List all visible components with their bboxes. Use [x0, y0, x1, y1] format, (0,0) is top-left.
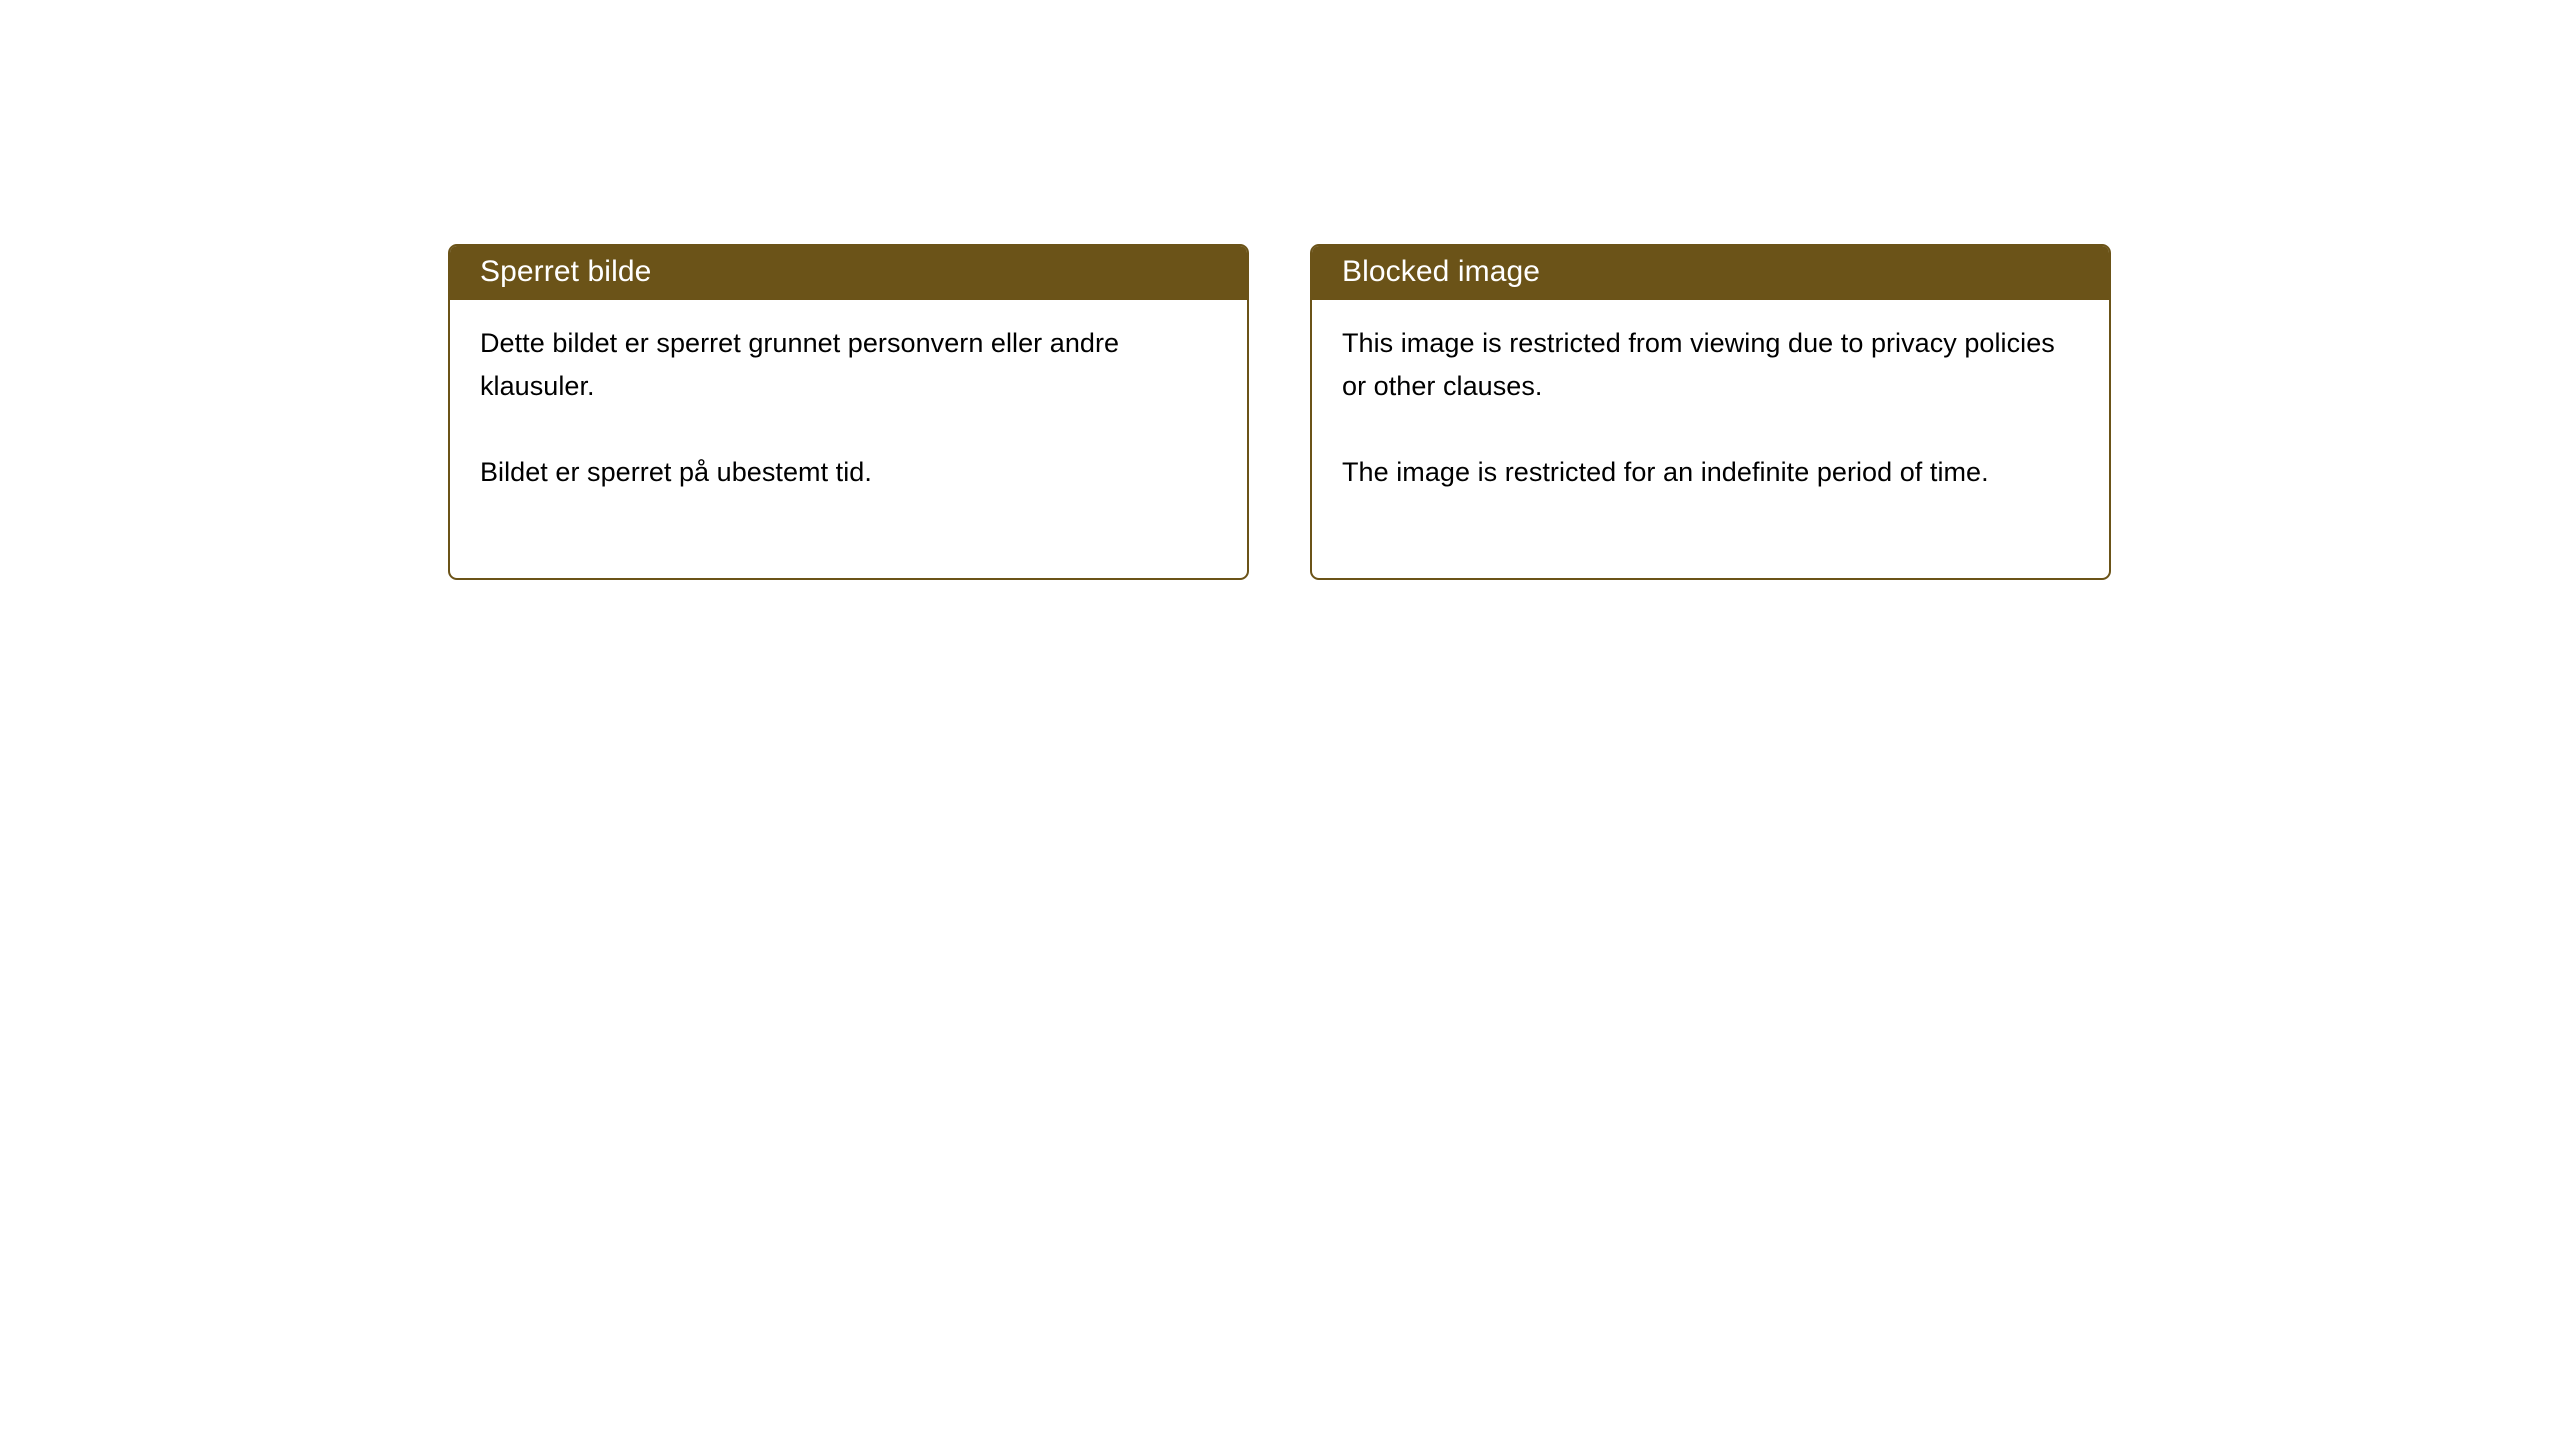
card-title-english: Blocked image: [1342, 257, 1540, 287]
card-paragraph-restriction-duration-english: The image is restricted for an indefinit…: [1342, 451, 2079, 494]
page-canvas: Sperret bilde Dette bildet er sperret gr…: [0, 0, 2560, 1440]
blocked-image-notice-group: Sperret bilde Dette bildet er sperret gr…: [448, 244, 2111, 580]
card-header-english: Blocked image: [1310, 244, 2111, 300]
card-header-norwegian: Sperret bilde: [448, 244, 1249, 300]
card-title-norwegian: Sperret bilde: [480, 257, 651, 287]
card-paragraph-restriction-reason-norwegian: Dette bildet er sperret grunnet personve…: [480, 322, 1217, 408]
blocked-image-card-norwegian: Sperret bilde Dette bildet er sperret gr…: [448, 244, 1249, 580]
card-body-english: This image is restricted from viewing du…: [1312, 300, 2109, 578]
card-paragraph-restriction-reason-english: This image is restricted from viewing du…: [1342, 322, 2079, 408]
blocked-image-card-english: Blocked image This image is restricted f…: [1310, 244, 2111, 580]
card-body-norwegian: Dette bildet er sperret grunnet personve…: [450, 300, 1247, 578]
card-paragraph-restriction-duration-norwegian: Bildet er sperret på ubestemt tid.: [480, 451, 1217, 494]
